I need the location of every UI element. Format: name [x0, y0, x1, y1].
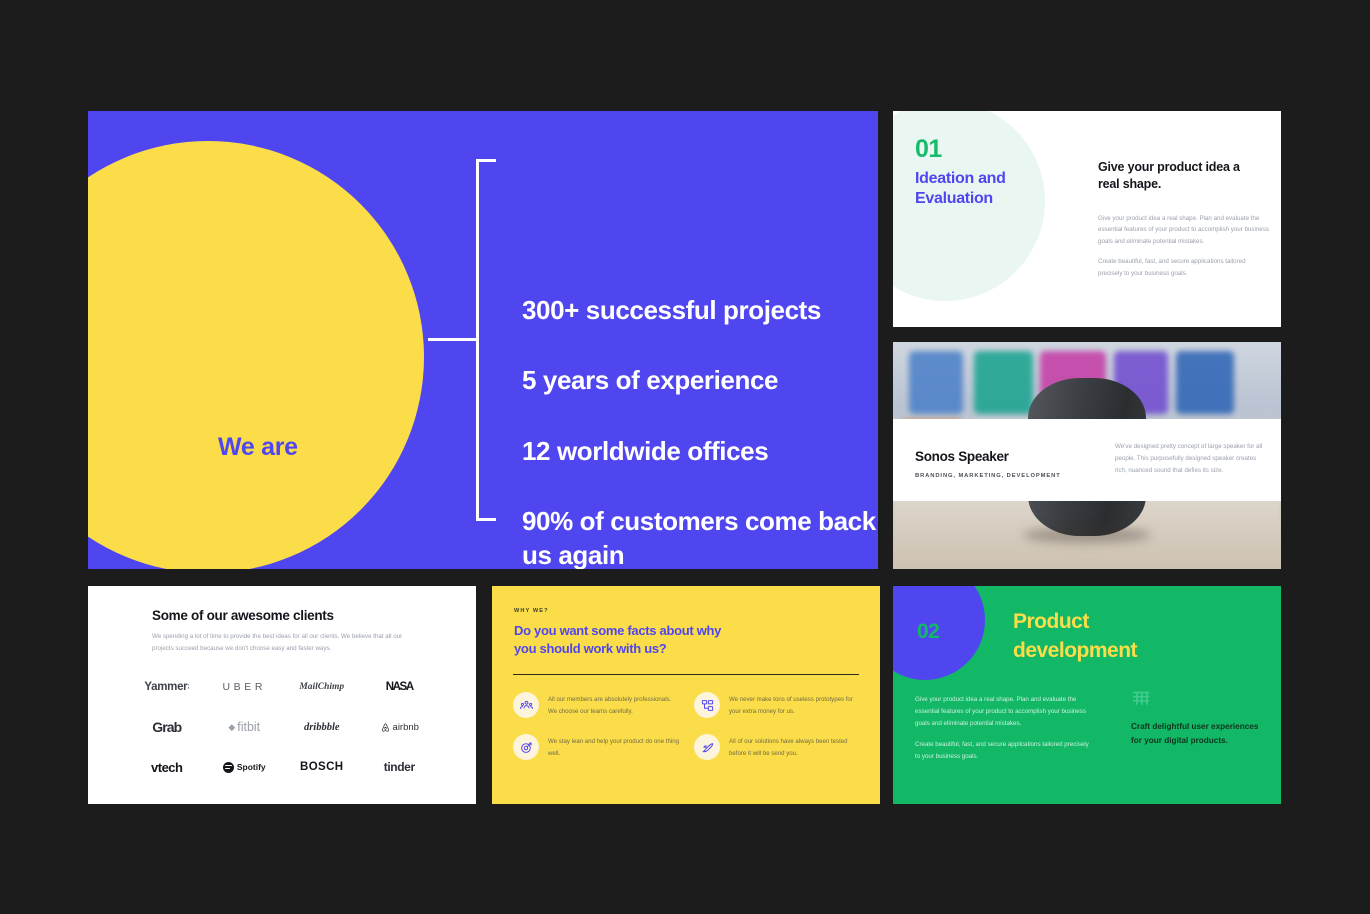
step-number: 01 [915, 135, 942, 164]
bracket-bottom-cap [476, 518, 496, 521]
we-are-label: We are [218, 433, 298, 462]
fitbit-diamond-icon: ◆ [228, 722, 235, 733]
uber-logo: UBER [206, 674, 284, 700]
slide-clients[interactable]: Some of our awesome clients We spending … [88, 586, 476, 804]
yellow-circle-shape [88, 141, 424, 569]
blurred-tile [1176, 351, 1234, 414]
slide-we-are[interactable]: We are 300+ successful projects 5 years … [88, 111, 878, 569]
divider [513, 674, 859, 675]
body-paragraph: Create beautiful, fast, and secure appli… [915, 739, 1090, 763]
target-icon [513, 734, 539, 760]
blurred-tile [974, 351, 1032, 414]
airbnb-logo: airbnb [361, 714, 439, 740]
bracket-connector-line [428, 338, 478, 341]
step-title: Product development [1013, 608, 1203, 666]
slide-sonos-speaker[interactable]: Sonos Speaker BRANDING, MARKETING, DEVEL… [893, 342, 1281, 569]
spotify-logo: Spotify [206, 754, 284, 780]
feature-item: All of our solutions have always been te… [694, 734, 861, 760]
tinder-logo: tinder [361, 754, 439, 780]
feature-item: We stay lean and help your product do on… [513, 734, 680, 760]
stats-list: 300+ successful projects 5 years of expe… [522, 293, 878, 569]
stat-item: 300+ successful projects [522, 293, 878, 327]
body-paragraph: Give your product idea a real shape. Pla… [1098, 213, 1270, 247]
stat-item: 12 worldwide offices [522, 434, 878, 468]
stat-item: 5 years of experience [522, 363, 878, 397]
client-logo-grid: Yammer; UBER MailChimp NASA Grab ◆fitbit… [128, 674, 438, 780]
blurred-tile [909, 351, 963, 414]
clients-title: Some of our awesome clients [152, 608, 334, 623]
body-paragraph: Give your product idea a real shape. Pla… [915, 694, 1090, 730]
project-description: We've designed pretty concept of large s… [1115, 441, 1265, 477]
step-title: Ideation and Evaluation [915, 169, 1065, 210]
project-tags: BRANDING, MARKETING, DEVELOPMENT [915, 473, 1061, 479]
fitbit-logo: ◆fitbit [206, 714, 284, 740]
slide-why-we[interactable]: WHY WE? Do you want some facts about why… [492, 586, 880, 804]
nasa-logo: NASA [361, 674, 439, 700]
vtech-logo: vtech [128, 754, 206, 780]
card-heading: Give your product idea a real shape. [1098, 159, 1263, 193]
feature-item: We never make tons of useless prototypes… [694, 692, 861, 718]
stat-item: 90% of customers come back to us again [522, 504, 878, 569]
bosch-logo: BOSCH [283, 754, 361, 780]
feature-grid: All our members are absolutely professio… [513, 692, 861, 760]
feature-text: We stay lean and help your product do on… [548, 734, 680, 760]
card-body: Give your product idea a real shape. Pla… [1098, 213, 1270, 279]
card-body: Give your product idea a real shape. Pla… [915, 694, 1090, 763]
project-title: Sonos Speaker [915, 449, 1009, 464]
yammer-logo: Yammer; [128, 674, 206, 700]
highlight-block: Craft delightful user experiences for yo… [1131, 690, 1261, 749]
highlight-text: Craft delightful user experiences for yo… [1131, 720, 1261, 749]
rocket-icon [694, 734, 720, 760]
feature-text: All our members are absolutely professio… [548, 692, 680, 718]
team-icon [513, 692, 539, 718]
airbnb-mark-icon [380, 722, 391, 733]
feature-text: We never make tons of useless prototypes… [729, 692, 861, 718]
presentation-mockup-board: We are 300+ successful projects 5 years … [0, 0, 1370, 914]
grab-logo: Grab [128, 714, 206, 740]
dribbble-logo: dribbble [283, 714, 361, 740]
mailchimp-logo: MailChimp [283, 674, 361, 700]
feature-item: All our members are absolutely professio… [513, 692, 680, 718]
body-paragraph: Create beautiful, fast, and secure appli… [1098, 256, 1270, 279]
bracket-top-cap [476, 159, 496, 162]
clients-subtitle: We spending a lot of time to provide the… [152, 631, 410, 655]
bracket-decoration [428, 159, 488, 521]
feature-text: All of our solutions have always been te… [729, 734, 861, 760]
slide-product-development[interactable]: 02 Product development Give your product… [893, 586, 1281, 804]
layout-grid-icon [1131, 690, 1151, 710]
section-title: Do you want some facts about why you sho… [514, 622, 744, 659]
section-kicker: WHY WE? [514, 608, 549, 614]
step-number: 02 [917, 620, 939, 644]
slide-ideation-evaluation[interactable]: 01 Ideation and Evaluation Give your pro… [893, 111, 1281, 327]
spotify-mark-icon [223, 762, 234, 773]
prototype-icon [694, 692, 720, 718]
